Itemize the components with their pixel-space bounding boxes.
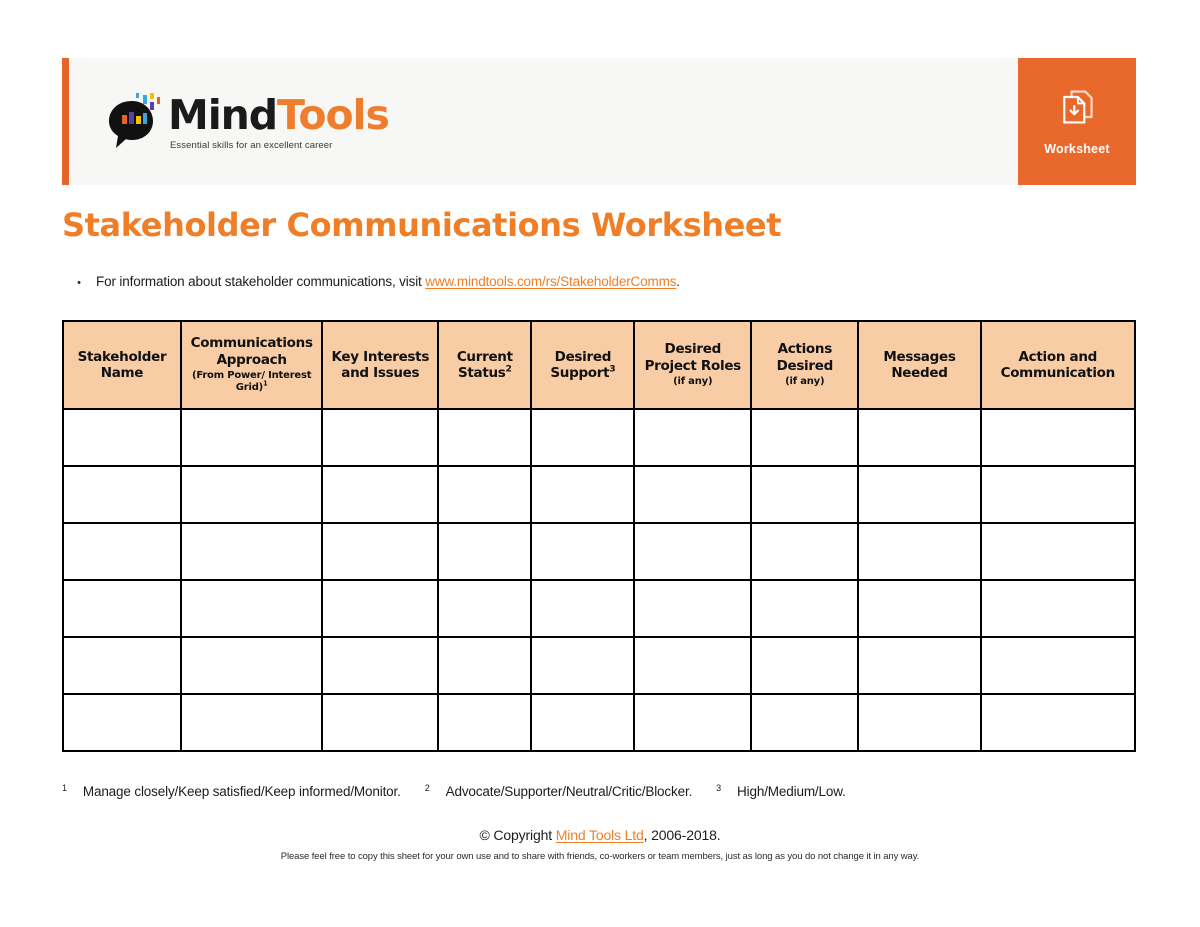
brand-word-mind: Mind	[168, 91, 277, 139]
table-cell[interactable]	[322, 466, 438, 523]
table-row	[63, 466, 1135, 523]
stakeholder-comms-link[interactable]: www.mindtools.com/rs/StakeholderComms	[425, 274, 676, 289]
column-header-desired-support: Desired Support3	[531, 321, 634, 409]
column-header-communications-approach: Communications Approach (From Power/ Int…	[181, 321, 323, 409]
disclaimer-text: Please feel free to copy this sheet for …	[0, 851, 1200, 862]
worksheet-badge: Worksheet	[1018, 58, 1136, 185]
table-cell[interactable]	[858, 580, 980, 637]
table-cell[interactable]	[322, 694, 438, 751]
column-header-messages-needed: Messages Needed	[858, 321, 980, 409]
table-cell[interactable]	[634, 466, 751, 523]
copyright-prefix: © Copyright	[480, 827, 556, 843]
table-cell[interactable]	[634, 694, 751, 751]
footnote-text: Manage closely/Keep satisfied/Keep infor…	[83, 784, 401, 799]
column-header-actions-desired: Actions Desired (if any)	[751, 321, 858, 409]
column-header-stakeholder-name: Stakeholder Name	[63, 321, 181, 409]
table-row	[63, 637, 1135, 694]
page-title: Stakeholder Communications Worksheet	[62, 206, 781, 244]
brand-tagline: Essential skills for an excellent career	[170, 140, 389, 151]
table-cell[interactable]	[181, 637, 323, 694]
table-cell[interactable]	[531, 466, 634, 523]
table-cell[interactable]	[858, 409, 980, 466]
table-cell[interactable]	[981, 466, 1135, 523]
table-cell[interactable]	[751, 466, 858, 523]
column-header-footnote-mark: 1	[263, 380, 268, 388]
table-row	[63, 694, 1135, 751]
table-cell[interactable]	[531, 523, 634, 580]
table-cell[interactable]	[531, 580, 634, 637]
worksheet-page: MindTools Essential skills for an excell…	[0, 0, 1200, 927]
intro-line: • For information about stakeholder comm…	[62, 274, 1136, 290]
column-header-sub-text: (From Power/ Interest Grid)	[192, 370, 311, 394]
table-cell[interactable]	[981, 409, 1135, 466]
intro-text-before: For information about stakeholder commun…	[96, 274, 425, 289]
table-cell[interactable]	[63, 694, 181, 751]
table-cell[interactable]	[63, 637, 181, 694]
table-cell[interactable]	[981, 523, 1135, 580]
column-header-main: Desired Support3	[535, 349, 630, 382]
column-header-main: Desired Project Roles	[638, 341, 747, 374]
table-cell[interactable]	[63, 523, 181, 580]
column-header-main: Action and Communication	[985, 349, 1131, 382]
column-header-main-text: Desired Support	[550, 349, 611, 381]
table-cell[interactable]	[181, 409, 323, 466]
intro-text-after: .	[676, 274, 680, 289]
table-cell[interactable]	[181, 523, 323, 580]
table-cell[interactable]	[751, 409, 858, 466]
column-header-main: Messages Needed	[862, 349, 976, 382]
table-cell[interactable]	[438, 523, 531, 580]
table-cell[interactable]	[63, 580, 181, 637]
table-cell[interactable]	[634, 637, 751, 694]
table-cell[interactable]	[751, 580, 858, 637]
table-body	[63, 409, 1135, 751]
table-cell[interactable]	[981, 580, 1135, 637]
footnote-mark: 1	[62, 783, 67, 793]
table-cell[interactable]	[322, 523, 438, 580]
table-cell[interactable]	[858, 694, 980, 751]
brand-word-tools: Tools	[277, 91, 389, 139]
table-cell[interactable]	[634, 580, 751, 637]
copyright-suffix: , 2006-2018.	[644, 827, 721, 843]
footnote-text: High/Medium/Low.	[737, 784, 846, 799]
table-cell[interactable]	[322, 580, 438, 637]
table-cell[interactable]	[751, 523, 858, 580]
stakeholder-communications-table: Stakeholder Name Communications Approach…	[62, 320, 1136, 752]
column-header-sub: (From Power/ Interest Grid)1	[185, 370, 319, 395]
table-row	[63, 523, 1135, 580]
worksheet-badge-label: Worksheet	[1044, 142, 1109, 156]
table-cell[interactable]	[181, 580, 323, 637]
column-header-sub: (if any)	[755, 376, 854, 389]
mind-tools-ltd-link[interactable]: Mind Tools Ltd	[556, 827, 644, 843]
column-header-main: Actions Desired	[755, 341, 854, 374]
column-header-main-text: Current Status	[457, 349, 513, 381]
worksheet-download-icon	[1057, 87, 1097, 132]
table-cell[interactable]	[438, 580, 531, 637]
table-cell[interactable]	[634, 523, 751, 580]
table-cell[interactable]	[751, 637, 858, 694]
footnote-mark: 3	[716, 783, 721, 793]
table-cell[interactable]	[751, 694, 858, 751]
column-header-main: Key Interests and Issues	[326, 349, 434, 382]
column-header-main: Communications Approach	[185, 335, 319, 368]
table-row	[63, 409, 1135, 466]
intro-text: For information about stakeholder commun…	[96, 274, 680, 290]
footnote-3: 3 High/Medium/Low.	[716, 784, 846, 799]
column-header-key-interests-and-issues: Key Interests and Issues	[322, 321, 438, 409]
table-cell[interactable]	[981, 637, 1135, 694]
column-header-desired-project-roles: Desired Project Roles (if any)	[634, 321, 751, 409]
column-header-main: Stakeholder Name	[67, 349, 177, 382]
masthead-accent-bar	[62, 58, 69, 185]
column-header-sub: (if any)	[638, 376, 747, 389]
column-header-footnote-mark: 2	[506, 364, 512, 375]
table-header-row: Stakeholder Name Communications Approach…	[63, 321, 1135, 409]
footnote-mark: 2	[425, 783, 430, 793]
table-cell[interactable]	[438, 466, 531, 523]
table-cell[interactable]	[858, 523, 980, 580]
table-cell[interactable]	[438, 694, 531, 751]
table-cell[interactable]	[63, 409, 181, 466]
column-header-main: Current Status2	[442, 349, 527, 382]
column-header-action-and-communication: Action and Communication	[981, 321, 1135, 409]
table-cell[interactable]	[531, 694, 634, 751]
table-cell[interactable]	[981, 694, 1135, 751]
table-cell[interactable]	[181, 694, 323, 751]
column-header-footnote-mark: 3	[609, 364, 615, 375]
table-cell[interactable]	[322, 409, 438, 466]
table-cell[interactable]	[63, 466, 181, 523]
footnote-text: Advocate/Supporter/Neutral/Critic/Blocke…	[446, 784, 693, 799]
table-cell[interactable]	[634, 409, 751, 466]
table-cell[interactable]	[322, 637, 438, 694]
mindtools-head-icon	[102, 91, 164, 153]
footnote-2: 2 Advocate/Supporter/Neutral/Critic/Bloc…	[425, 784, 692, 799]
footnote-1: 1 Manage closely/Keep satisfied/Keep inf…	[62, 784, 401, 799]
brand-logo: MindTools Essential skills for an excell…	[69, 58, 1018, 185]
brand-wordmark: MindTools	[168, 95, 389, 136]
table-cell[interactable]	[181, 466, 323, 523]
table-cell[interactable]	[858, 637, 980, 694]
masthead: MindTools Essential skills for an excell…	[62, 58, 1136, 185]
table-cell[interactable]	[438, 637, 531, 694]
table-cell[interactable]	[858, 466, 980, 523]
copyright-line: © Copyright Mind Tools Ltd, 2006-2018.	[0, 827, 1200, 843]
column-header-current-status: Current Status2	[438, 321, 531, 409]
table-cell[interactable]	[531, 637, 634, 694]
footnotes: 1 Manage closely/Keep satisfied/Keep inf…	[62, 784, 1136, 799]
table-cell[interactable]	[438, 409, 531, 466]
table-row	[63, 580, 1135, 637]
bullet-icon: •	[62, 278, 96, 289]
table-cell[interactable]	[531, 409, 634, 466]
